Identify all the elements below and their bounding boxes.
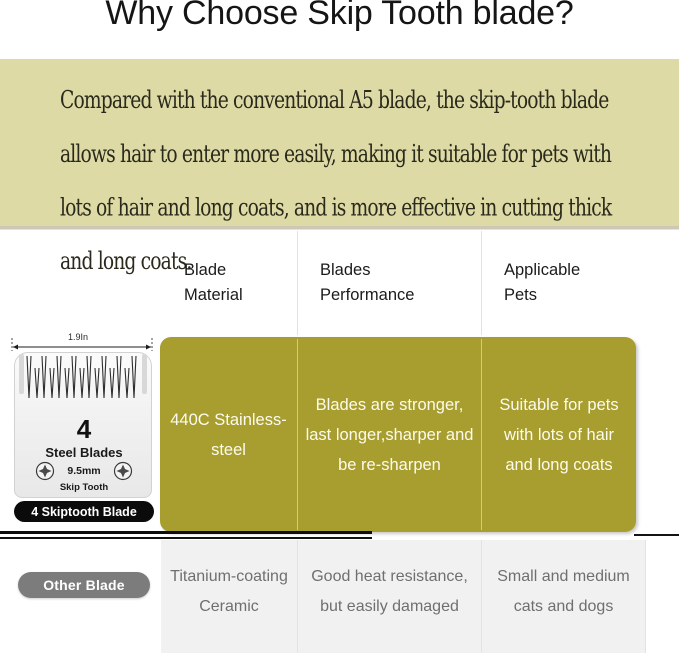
blade-count-value: 4	[15, 416, 153, 442]
column-header-line1: Applicable	[504, 258, 624, 283]
banner-bottom-divider-light	[0, 229, 679, 230]
column-header-line2: Performance	[320, 283, 440, 308]
skiptooth-blade-figure: 1.9In	[6, 330, 158, 526]
row-separator-rule-left	[0, 531, 372, 534]
row-separator-rule-left-2	[0, 537, 372, 539]
cell-skiptooth-pets: Suitable for pets with lots of hair and …	[482, 337, 636, 532]
intro-paragraph: Compared with the conventional A5 blade,…	[60, 74, 617, 289]
column-header-line1: Blades	[320, 258, 440, 283]
row-separator-rule-right	[634, 534, 679, 536]
cell-other-performance: Good heat resistance, but easily damaged	[298, 540, 481, 653]
gray-cell-divider-3	[645, 540, 646, 653]
cell-skiptooth-material: 440C Stainless-steel	[160, 337, 297, 532]
other-blade-row: Titanium-coating Ceramic Good heat resis…	[161, 540, 645, 653]
blade-teeth-icon	[15, 354, 151, 406]
screw-icon-left	[35, 461, 55, 481]
page-title: Why Choose Skip Tooth blade?	[0, 0, 679, 35]
column-header-blade-material: Blade Material	[184, 258, 304, 308]
infographic-page: Why Choose Skip Tooth blade? Compared wi…	[0, 0, 679, 653]
header-column-divider-2	[481, 231, 482, 335]
skiptooth-blade-row: 440C Stainless-steel Blades are stronger…	[160, 337, 636, 532]
cell-other-pets: Small and medium cats and dogs	[482, 540, 645, 653]
cell-other-material: Titanium-coating Ceramic	[161, 540, 297, 653]
skiptooth-blade-badge: 4 Skiptooth Blade	[14, 501, 154, 522]
column-header-line2: Pets	[504, 283, 624, 308]
blade-type-label: Skip Tooth	[15, 482, 153, 493]
blade-steel-label: Steel Blades	[15, 445, 153, 460]
column-header-line2: Material	[184, 283, 304, 308]
other-blade-badge: Other Blade	[18, 572, 150, 598]
cell-skiptooth-performance: Blades are stronger, last longer,sharper…	[298, 337, 481, 532]
column-header-blades-performance: Blades Performance	[320, 258, 440, 308]
column-header-line1: Blade	[184, 258, 304, 283]
screw-icon-right	[113, 461, 133, 481]
blade-body: 4 Steel Blades 9.5mm Skip Tooth	[14, 352, 152, 498]
column-header-applicable-pets: Applicable Pets	[504, 258, 624, 308]
blade-dimension-label: 1.9In	[6, 332, 150, 342]
